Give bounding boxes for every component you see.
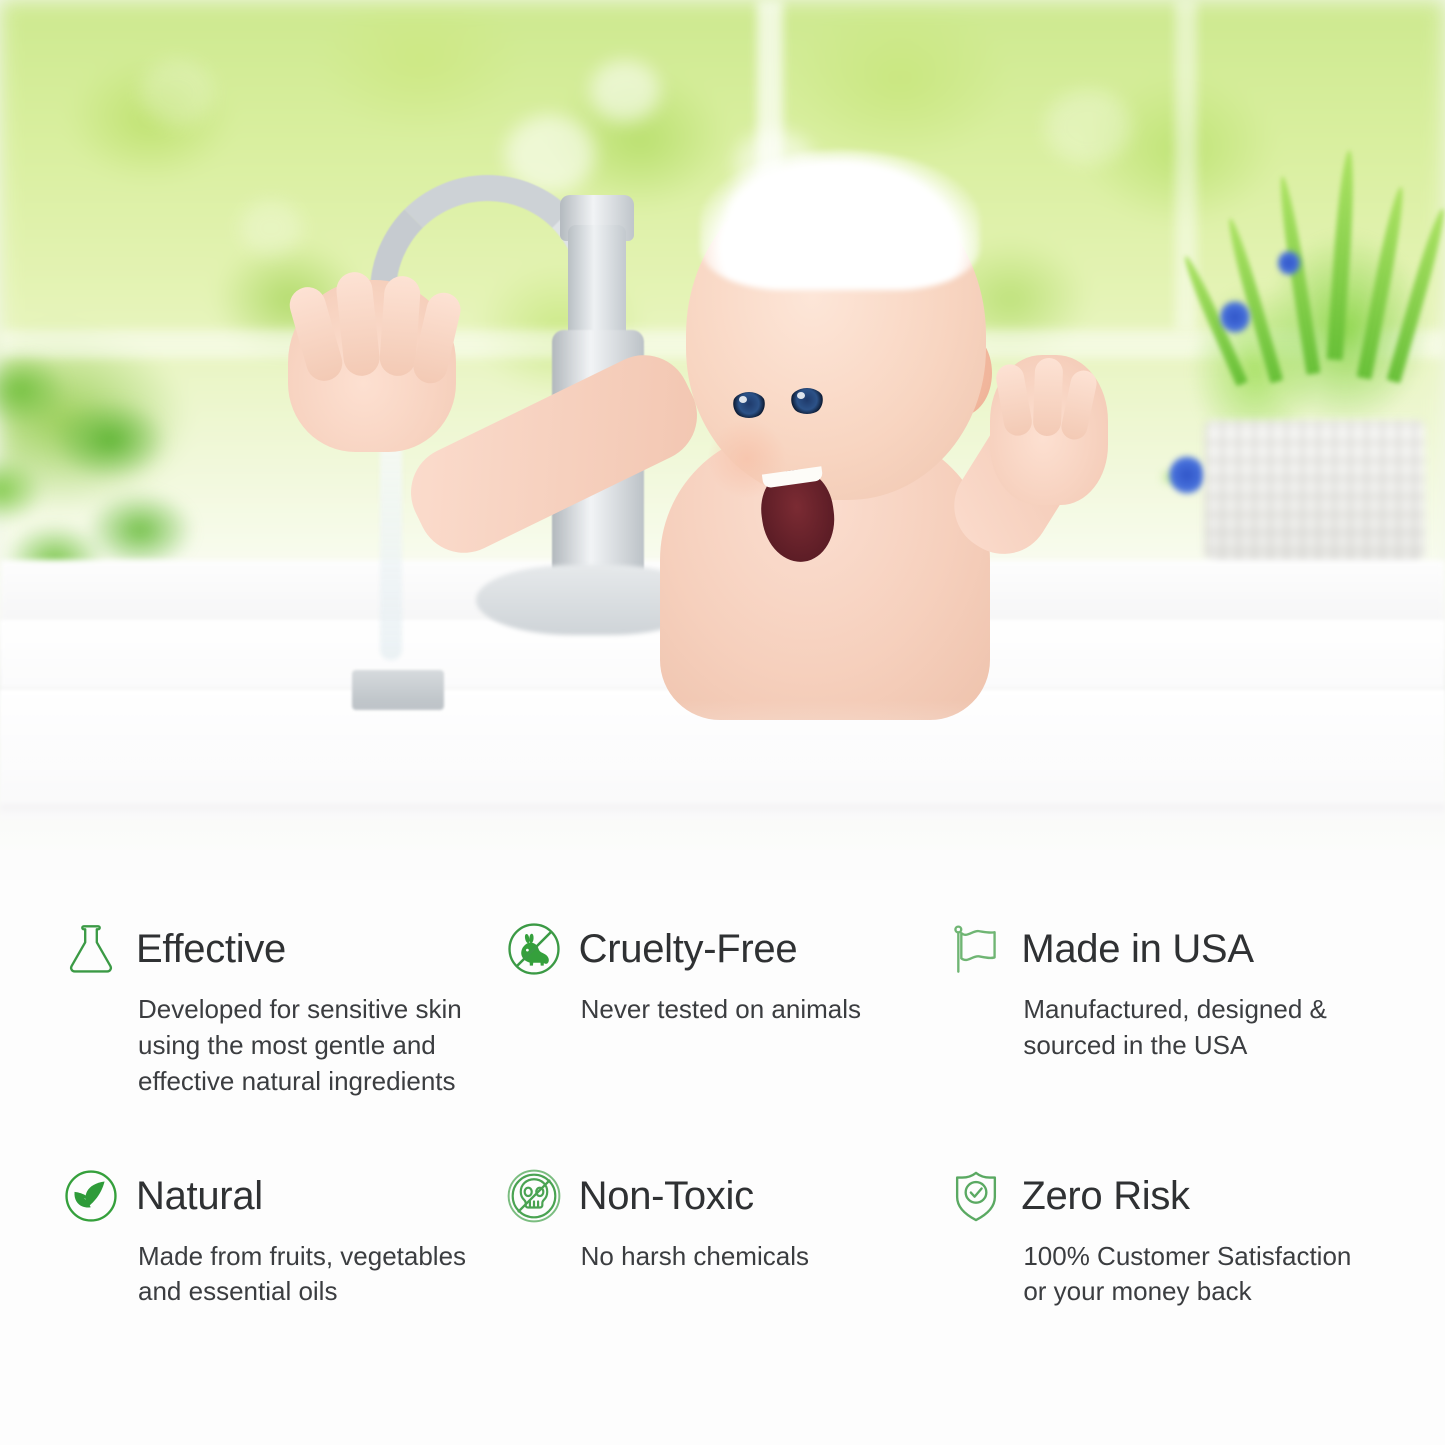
blue-flower xyxy=(1278,250,1300,276)
feature-header: Effective xyxy=(62,920,505,978)
feature-title: Non-Toxic xyxy=(579,1175,754,1217)
feature-title: Cruelty-Free xyxy=(579,928,798,970)
feature-title: Made in USA xyxy=(1021,928,1253,970)
baby-finger xyxy=(1033,358,1064,437)
feature-description: Made from fruits, vegetables and essenti… xyxy=(138,1239,498,1311)
feature-title: Zero Risk xyxy=(1021,1175,1189,1217)
feature-non-toxic: Non-Toxic No harsh chemicals xyxy=(505,1167,948,1396)
flag-icon xyxy=(947,920,1005,978)
counter-edge xyxy=(0,805,1445,815)
feature-description: Never tested on animals xyxy=(581,992,941,1028)
feature-description: Manufactured, designed & sourced in the … xyxy=(1023,992,1353,1064)
feature-description: No harsh chemicals xyxy=(581,1239,941,1275)
plant-basket xyxy=(1205,420,1425,570)
blue-flower xyxy=(1169,455,1205,495)
non-toxic-skull-icon xyxy=(505,1167,563,1225)
shampoo-foam-highlight xyxy=(730,165,930,255)
bokeh-highlight xyxy=(140,60,214,126)
feature-header: Cruelty-Free xyxy=(505,920,948,978)
bokeh-highlight xyxy=(240,200,302,256)
feature-cruelty-free: Cruelty-Free Never tested on animals xyxy=(505,920,948,1149)
feature-description: Developed for sensitive skin using the m… xyxy=(138,992,498,1100)
bokeh-highlight xyxy=(1045,90,1131,164)
feature-title: Effective xyxy=(136,928,286,970)
feature-title: Natural xyxy=(136,1175,263,1217)
blue-flower xyxy=(1220,300,1250,334)
cruelty-free-rabbit-icon xyxy=(505,920,563,978)
faucet-neck xyxy=(568,225,626,345)
flask-icon xyxy=(62,920,120,978)
feature-effective: Effective Developed for sensitive skin u… xyxy=(62,920,505,1149)
feature-header: Zero Risk xyxy=(947,1167,1390,1225)
feature-header: Natural xyxy=(62,1167,505,1225)
product-feature-page: Effective Developed for sensitive skin u… xyxy=(0,0,1445,1445)
basket-weave-texture xyxy=(1205,420,1425,570)
sink-drain xyxy=(352,670,444,710)
feature-natural: Natural Made from fruits, vegetables and… xyxy=(62,1167,505,1396)
bokeh-highlight xyxy=(590,60,660,122)
feature-header: Made in USA xyxy=(947,920,1390,978)
hero-photo xyxy=(0,0,1445,850)
leaf-icon xyxy=(62,1167,120,1225)
feature-grid: Effective Developed for sensitive skin u… xyxy=(0,880,1445,1445)
shield-check-icon xyxy=(947,1167,1005,1225)
feature-made-in-usa: Made in USA Manufactured, designed & sou… xyxy=(947,920,1390,1149)
feature-description: 100% Customer Satisfaction or your money… xyxy=(1023,1239,1353,1311)
baby-eye-left xyxy=(732,392,766,418)
baby-eye-right xyxy=(790,388,824,414)
feature-zero-risk: Zero Risk 100% Customer Satisfaction or … xyxy=(947,1167,1390,1396)
feature-header: Non-Toxic xyxy=(505,1167,948,1225)
